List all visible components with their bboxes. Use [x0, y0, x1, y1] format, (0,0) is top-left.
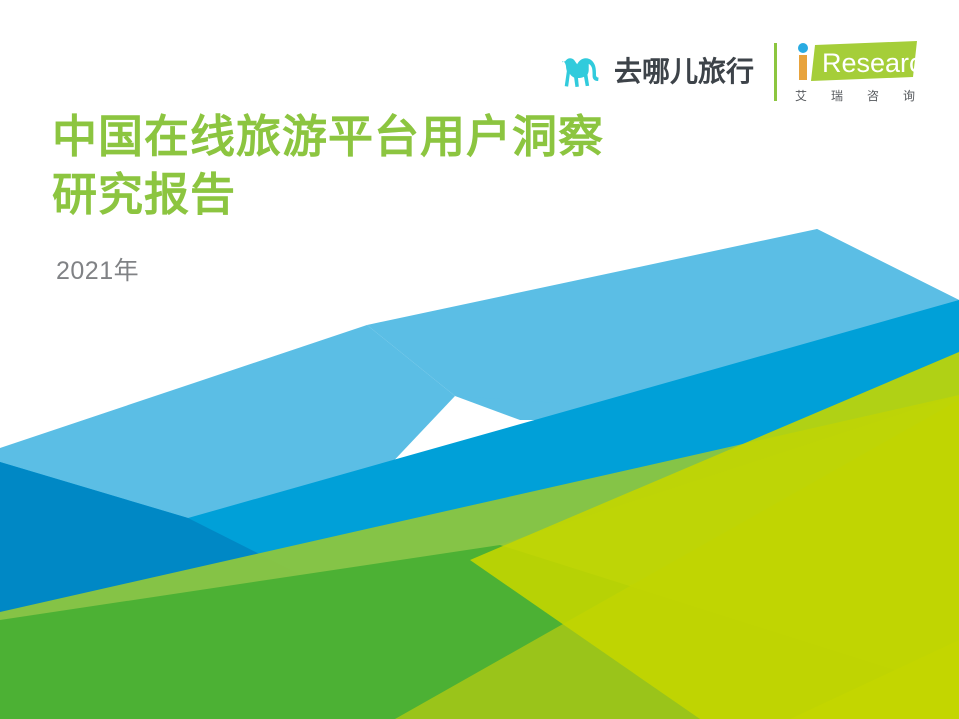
- iresearch-char-3: 咨: [867, 87, 879, 104]
- title-block: 中国在线旅游平台用户洞察研究报告 2021年: [52, 108, 604, 287]
- camel-icon: [562, 54, 606, 90]
- iresearch-chinese-name: 艾 瑞 咨 询: [795, 87, 915, 104]
- iresearch-logo: Research 艾 瑞 咨 询: [791, 41, 917, 104]
- iresearch-wordmark: Research: [791, 41, 917, 83]
- iresearch-char-2: 瑞: [831, 87, 843, 104]
- iresearch-i-stem: [799, 55, 807, 80]
- report-year: 2021年: [56, 251, 604, 287]
- page-title-line-2: 研究报告: [52, 169, 236, 220]
- logo-bar: 去哪儿旅行 Research 艾 瑞 咨: [562, 36, 917, 108]
- report-cover-slide: 去哪儿旅行 Research 艾 瑞 咨: [0, 0, 959, 719]
- iresearch-wordmark-text: Research: [822, 48, 917, 78]
- page-title-line-1: 中国在线旅游平台用户洞察: [52, 111, 604, 162]
- iresearch-char-4: 询: [903, 87, 915, 104]
- qunar-logo: 去哪儿旅行: [562, 46, 770, 98]
- iresearch-i-dot: [798, 43, 808, 53]
- qunar-logo-text: 去哪儿旅行: [614, 58, 754, 86]
- page-title: 中国在线旅游平台用户洞察研究报告: [52, 108, 604, 223]
- iresearch-char-1: 艾: [795, 87, 807, 104]
- logo-divider: [774, 43, 777, 101]
